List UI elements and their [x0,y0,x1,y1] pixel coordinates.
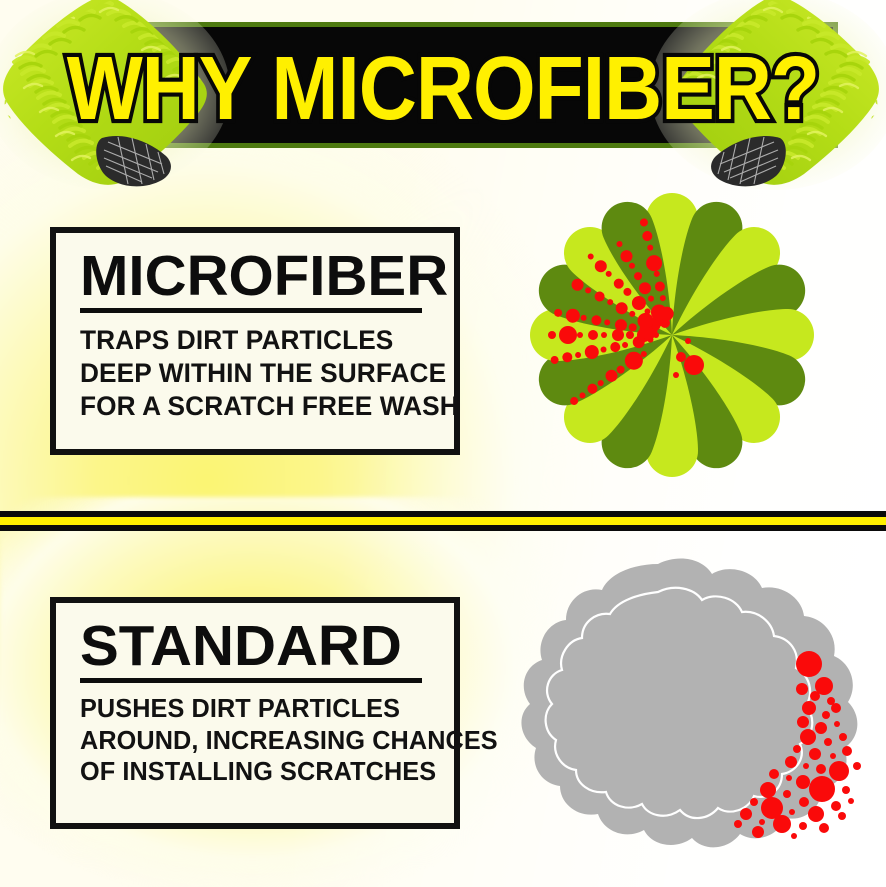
standard-heading-underline [80,678,422,683]
microfiber-heading: MICROFIBER [80,249,448,304]
standard-body-line-1: PUSHES DIRT PARTICLES [80,694,432,726]
standard-info-card: STANDARD PUSHES DIRT PARTICLES AROUND, I… [50,597,460,829]
divider-stripe-black-bottom [0,525,886,531]
page-title-text: WHY MICROFIBER? [67,45,819,135]
page-title: WHY MICROFIBER? [0,51,886,127]
microfiber-heading-underline [80,308,422,313]
standard-body-line-2: AROUND, INCREASING CHANCES [80,726,432,758]
microfiber-body-line-3: FOR A SCRATCH FREE WASH [80,390,432,423]
section-divider [0,508,886,532]
microfiber-info-card: MICROFIBER TRAPS DIRT PARTICLES DEEP WIT… [50,227,460,455]
divider-stripe-yellow [0,517,886,525]
microfiber-body-line-2: DEEP WITHIN THE SURFACE [80,357,432,390]
microfiber-fiber-flower-diagram [508,176,858,506]
infographic-poster: WHY MICROFIBER? [0,0,886,887]
microfiber-body-line-1: TRAPS DIRT PARTICLES [80,324,432,357]
standard-cloth-blob-diagram [506,556,878,876]
standard-heading: STANDARD [80,619,402,674]
header: WHY MICROFIBER? [0,0,886,182]
standard-body-line-3: OF INSTALLING SCRATCHES [80,757,432,789]
